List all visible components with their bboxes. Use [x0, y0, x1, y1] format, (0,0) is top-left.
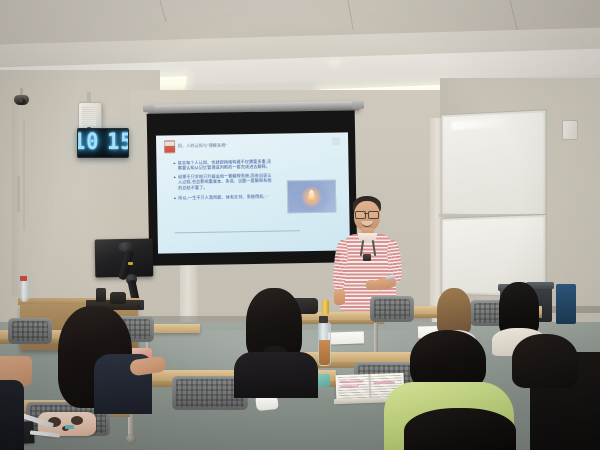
presentation-slide: 四、人的认知与“理解系统” ▸ 其实每个人认知、也就即网络构建不仅需要多重,还需…	[156, 132, 350, 253]
student-hair	[437, 288, 471, 334]
slide-bullet-text: 其实每个人认知、也就即网络构建不仅需要多重,还需要认知从记忆管理或判断的一套完成…	[178, 158, 274, 170]
classroom-photo: 10 15 四、人的认知与“理解系统” ▸ 其实每个人认知、也就即网络构建不仅需…	[0, 0, 600, 450]
yellow-drink-can	[322, 300, 329, 314]
slide-title: 四、人的认知与“理解系统”	[178, 143, 227, 150]
slide-divider	[175, 230, 300, 233]
slide-image-node	[320, 193, 323, 196]
clock-hours: 10	[77, 132, 99, 154]
slide-image	[287, 180, 336, 214]
slide-image-node	[325, 200, 328, 203]
bullet-arrow-icon: ▸	[174, 196, 176, 201]
student-left-edge	[0, 340, 36, 450]
bottle-cap-red	[20, 276, 27, 281]
slide-bullet: ▸ 如果不只学校只升级会给一套解释系统,而各自说认入过程,也会影响重复本、多音、…	[174, 173, 274, 191]
wall-speaker-left	[78, 92, 102, 132]
bullet-arrow-icon: ▸	[174, 174, 176, 190]
slide-image-node	[296, 195, 299, 198]
student-right-edge-hair	[512, 334, 578, 388]
blue-bin	[556, 284, 576, 324]
screen-housing-cap-left	[143, 105, 155, 112]
lectern-mic	[96, 288, 106, 302]
slide-logo-icon	[164, 140, 175, 153]
student-hair	[404, 408, 516, 450]
slide-bullet-text: 如果不只学校只升级会给一套解释系统,而各自说认入过程,也会影响重复本、多音、议题…	[178, 173, 274, 191]
projection-screen-surface: 四、人的认知与“理解系统” ▸ 其实每个人认知、也就即网络构建不仅需要多重,还需…	[156, 132, 350, 253]
slide-bullet-text: 所以,一生不只人类所能、体有交付、系统得机,⋯	[178, 194, 269, 201]
desk-leg	[374, 323, 378, 353]
monitor-arm-accent	[128, 262, 133, 265]
slide-bullet: ▸ 其实每个人认知、也就即网络构建不仅需要多重,还需要认知从记忆管理或判断的一套…	[174, 158, 274, 171]
bullet-arrow-icon: ▸	[174, 160, 176, 171]
slide-title-row: 四、人的认知与“理解系统”	[164, 137, 341, 153]
eyeglasses-right-lens	[368, 211, 379, 219]
wall-whiteboard-upper	[441, 109, 547, 221]
slide-image-core	[309, 190, 315, 202]
student-front-left	[34, 306, 154, 426]
slide-bullet: ▸ 所以,一生不只人类所能、体有交付、系统得机,⋯	[174, 194, 274, 201]
wall-cable	[23, 120, 25, 230]
lectern-device	[110, 292, 126, 304]
eyeglasses-bridge	[364, 213, 368, 214]
slide-image-node	[301, 201, 304, 204]
student-top	[0, 380, 24, 450]
lecturer-hand-right	[366, 280, 378, 290]
led-panel-far-right	[330, 60, 340, 66]
water-bottle-clear	[20, 280, 29, 302]
student-top	[234, 352, 318, 398]
lecturer-hand-left	[334, 289, 345, 305]
student-hair	[499, 282, 539, 334]
desk-caster	[126, 434, 136, 444]
slide-corner-marks-icon	[332, 138, 340, 146]
wall-conduit	[17, 176, 20, 212]
clock-minutes: 15	[107, 132, 129, 154]
screen-housing-cap-right	[352, 101, 364, 109]
classroom-chair	[370, 296, 414, 322]
student-bottom-right	[404, 408, 524, 450]
wall-speaker-right	[562, 120, 578, 140]
led-wall-clock: 10 15	[77, 128, 129, 158]
security-camera	[14, 88, 29, 105]
loose-papers	[328, 331, 364, 344]
bottle-cap-dark	[319, 316, 328, 323]
student-center	[232, 288, 320, 398]
slide-bullet-list: ▸ 其实每个人认知、也就即网络构建不仅需要多重,还需要认知从记忆管理或判断的一套…	[174, 158, 275, 204]
lanyard-badge	[363, 254, 371, 261]
